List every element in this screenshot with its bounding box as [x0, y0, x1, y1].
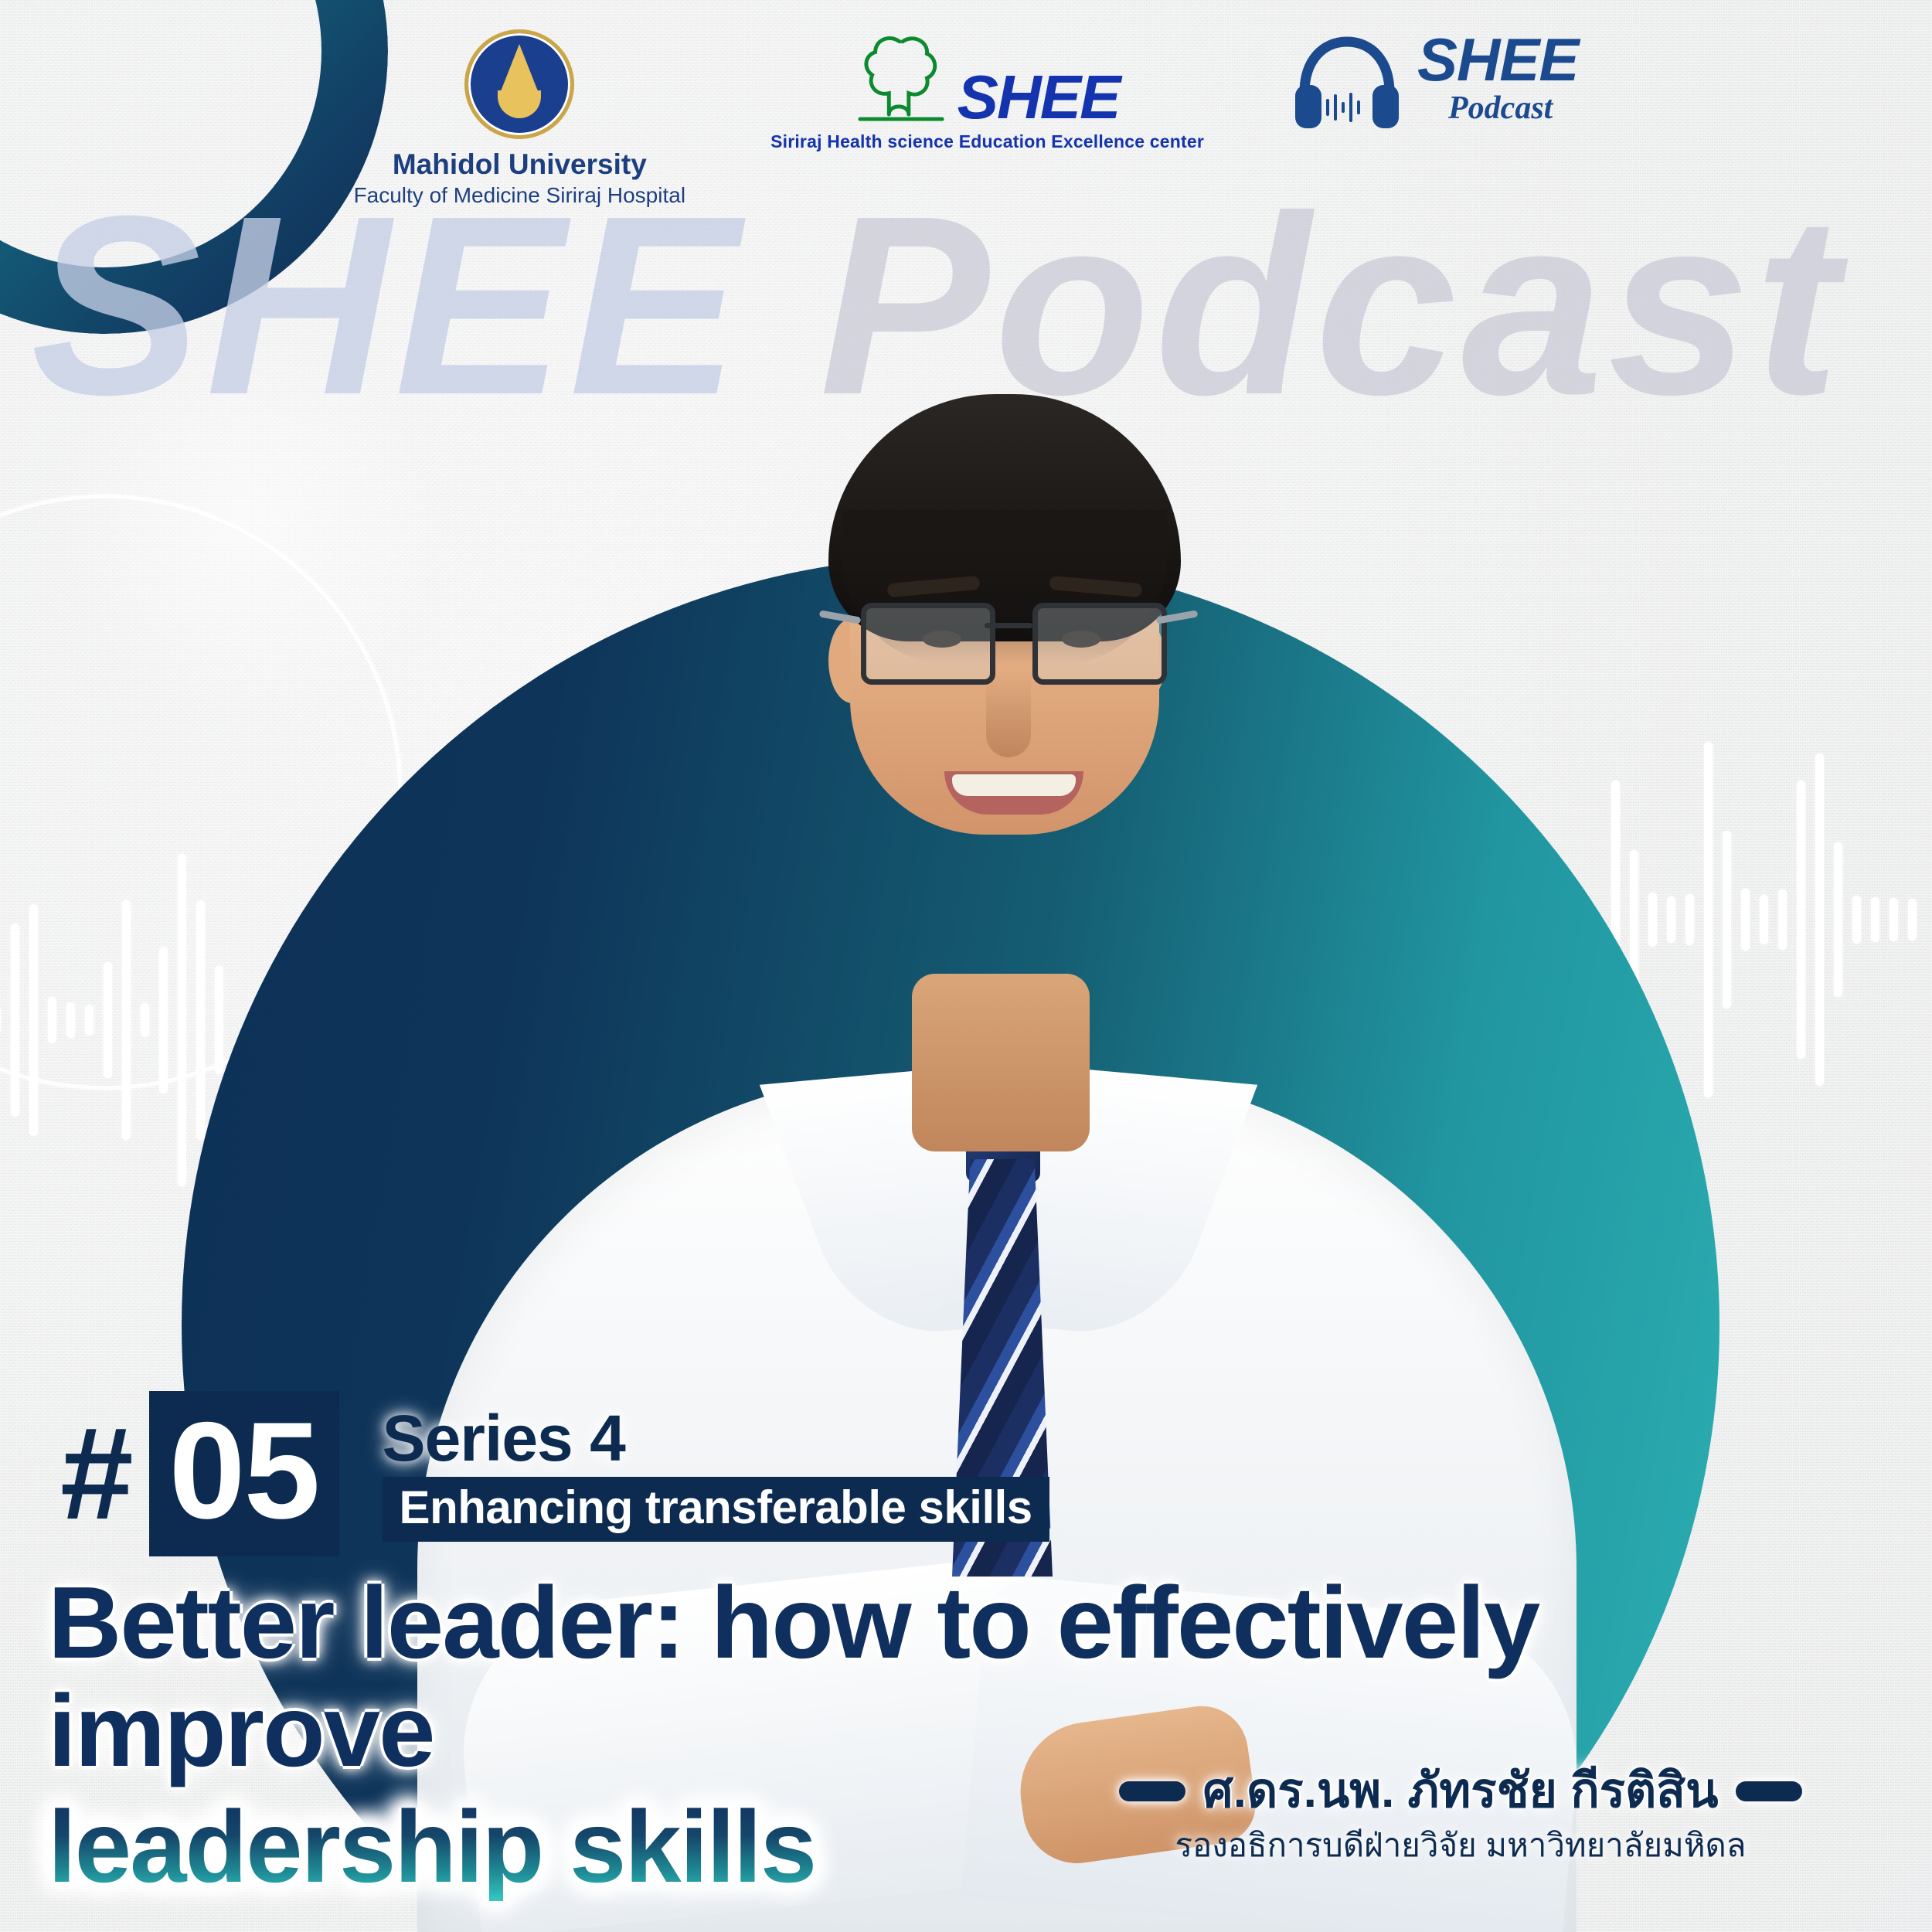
- series-block: Series 4 Enhancing transferable skills: [383, 1406, 1049, 1542]
- mahidol-name: Mahidol University: [393, 148, 647, 182]
- shee-wordmark: SHEE: [957, 70, 1120, 125]
- shee-podcast-logo: SHEE Podcast: [1289, 29, 1578, 130]
- seal-crown-top: [499, 44, 539, 95]
- tree-icon: [855, 29, 947, 125]
- title-line-1: Better leader: how to effectively improv…: [48, 1569, 1903, 1785]
- portrait-mouth: [944, 771, 1083, 815]
- shee-tagline: Siriraj Health science Education Excelle…: [770, 131, 1204, 152]
- podcast-cover: SHEE Podcast: [0, 0, 1932, 1932]
- podcast-wordmark-block: SHEE Podcast: [1417, 32, 1578, 127]
- glasses-lens-left: [861, 603, 995, 685]
- mahidol-faculty: Faculty of Medicine Siriraj Hospital: [354, 183, 686, 208]
- mahidol-seal-icon: [464, 29, 574, 139]
- seal-crown-base: [498, 90, 541, 118]
- glasses-lens-right: [1032, 603, 1167, 685]
- speaker-name-row: ศ.ดร.นพ. ภัทรชัย กีรติสิน: [1012, 1764, 1909, 1818]
- episode-hash: #: [60, 1421, 129, 1526]
- portrait-neck: [912, 974, 1090, 1151]
- podcast-subword: Podcast: [1448, 90, 1553, 127]
- title-line-2: leadership skills: [48, 1793, 815, 1901]
- shee-logo: SHEE Siriraj Health science Education Ex…: [770, 29, 1204, 152]
- episode-row: # 05 Series 4 Enhancing transferable ski…: [60, 1391, 1049, 1556]
- headphones-icon: [1289, 29, 1405, 130]
- glasses-bridge: [985, 623, 1032, 628]
- podcast-shee-wordmark: SHEE: [1417, 32, 1578, 88]
- speaker-name: ศ.ดร.นพ. ภัทรชัย กีรติสิน: [1202, 1764, 1718, 1818]
- podcast-logo-row: SHEE Podcast: [1289, 29, 1578, 130]
- mahidol-logo: Mahidol University Faculty of Medicine S…: [354, 29, 686, 208]
- dash-left-icon: [1119, 1781, 1185, 1801]
- episode-number-badge: 05: [149, 1391, 339, 1556]
- dash-right-icon: [1736, 1781, 1802, 1801]
- shee-logo-row: SHEE: [855, 29, 1120, 125]
- audio-waveform-icon: [0, 854, 223, 1186]
- eyeglasses-icon: [858, 603, 1159, 688]
- header-logos: Mahidol University Faculty of Medicine S…: [0, 29, 1932, 208]
- portrait-teeth: [952, 774, 1076, 796]
- speaker-role: รองอธิการบดีฝ่ายวิจัย มหาวิทยาลัยมหิดล: [1012, 1826, 1909, 1865]
- series-theme-badge: Enhancing transferable skills: [383, 1477, 1049, 1542]
- speaker-credit: ศ.ดร.นพ. ภัทรชัย กีรติสิน รองอธิการบดีฝ่…: [1012, 1764, 1909, 1866]
- series-label: Series 4: [383, 1406, 1049, 1471]
